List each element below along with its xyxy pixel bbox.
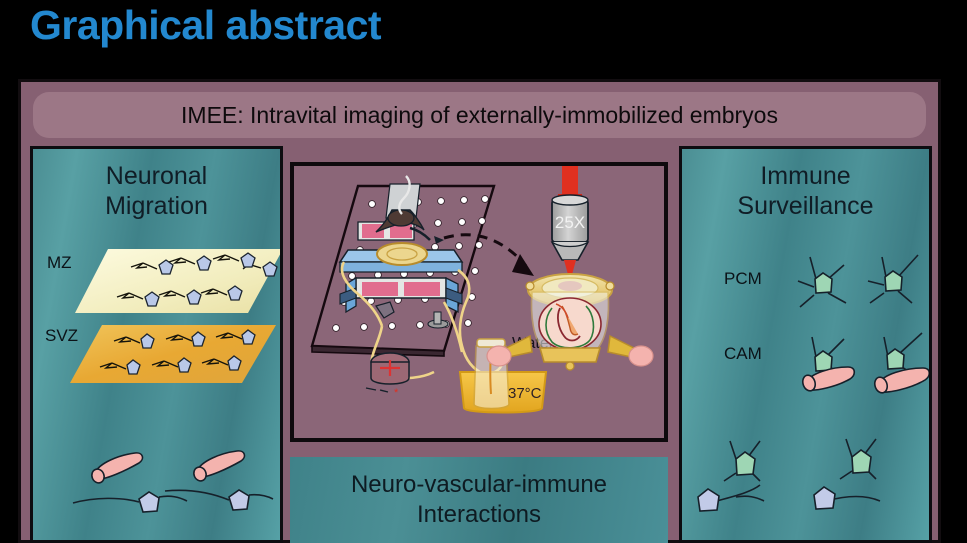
bottom-caption: Neuro-vascular-immune Interactions	[290, 457, 668, 543]
svz-layer-diagram	[68, 321, 283, 393]
label-cam: CAM	[724, 344, 762, 364]
left-panel-heading-line2: Migration	[33, 191, 280, 221]
mz-layer-diagram	[73, 245, 283, 325]
bottom-caption-line2: Interactions	[351, 500, 607, 530]
temperature-label: 37°C	[508, 385, 542, 402]
imaging-chamber	[487, 274, 653, 370]
label-mz: MZ	[47, 253, 72, 273]
pump-module: *	[366, 353, 409, 399]
left-panel-heading-line1: Neuronal	[33, 161, 280, 191]
abstract-container: IMEE: Intravital imaging of externally-i…	[18, 79, 941, 543]
bottom-right-scene	[690, 437, 930, 533]
header-banner: IMEE: Intravital imaging of externally-i…	[33, 92, 926, 138]
label-pcm: PCM	[724, 269, 762, 289]
bottom-left-scene	[39, 439, 279, 535]
left-panel-heading: Neuronal Migration	[33, 161, 280, 221]
apparatus-diagram: * 37°C Water	[294, 166, 664, 438]
svg-text:*: *	[394, 387, 399, 399]
panel-immune-surveillance: Immune Surveillance PCM CAM	[679, 146, 932, 543]
header-banner-label: IMEE: Intravital imaging of externally-i…	[181, 102, 778, 129]
right-panel-heading-line1: Immune	[682, 161, 929, 191]
panel-neuronal-migration: Neuronal Migration MZ SVZ	[30, 146, 283, 543]
bottom-caption-text: Neuro-vascular-immune Interactions	[351, 470, 607, 530]
pcm-cells-diagram	[794, 249, 932, 319]
objective-lens-assembly: 25X	[552, 166, 588, 282]
cam-cells-diagram	[792, 327, 932, 405]
page-title: Graphical abstract	[30, 2, 381, 49]
graphical-abstract-figure: Graphical abstract IMEE: Intravital imag…	[0, 0, 967, 543]
bottom-caption-line1: Neuro-vascular-immune	[351, 470, 607, 500]
right-panel-heading: Immune Surveillance	[682, 161, 929, 221]
center-apparatus-panel: * 37°C Water	[290, 162, 668, 442]
right-panel-heading-line2: Surveillance	[682, 191, 929, 221]
objective-label: 25X	[555, 213, 585, 232]
